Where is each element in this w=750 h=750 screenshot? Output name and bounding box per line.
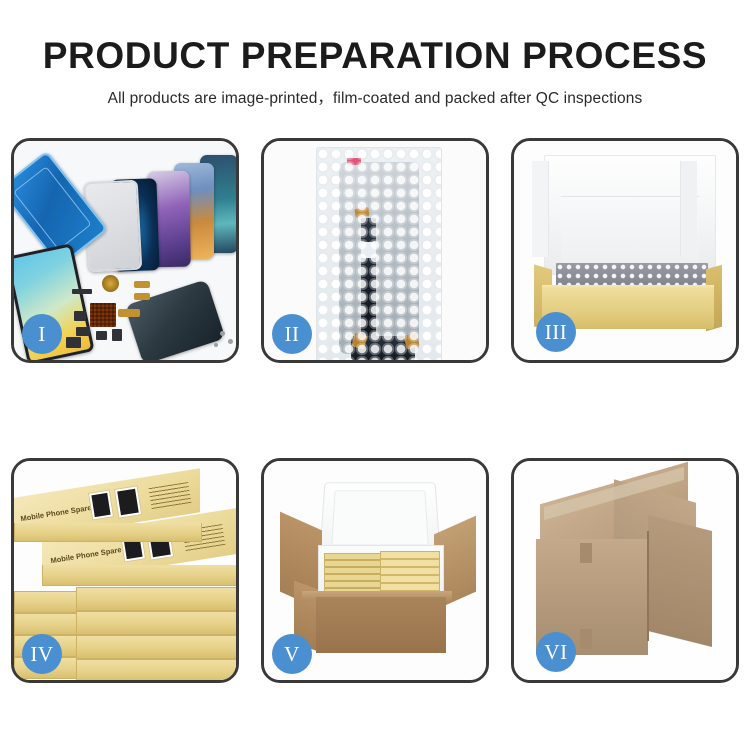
part-speaker-mesh — [72, 289, 92, 294]
part-connector-a — [74, 311, 86, 321]
gold-box-stack-right-2 — [76, 587, 236, 611]
gold-box-top-edge — [14, 523, 202, 542]
part-camera-module — [76, 327, 90, 336]
process-step-panel-1[interactable]: I — [11, 138, 239, 363]
header: PRODUCT PREPARATION PROCESS All products… — [0, 0, 750, 108]
process-step-panel-6[interactable]: VI — [511, 458, 739, 683]
foam-lid — [319, 482, 440, 554]
part-taptic-engine — [66, 337, 81, 348]
gold-box-stack-right-5 — [76, 659, 236, 680]
step-badge-2: II — [272, 314, 312, 354]
part-screw-c — [214, 343, 218, 347]
step-badge-4: IV — [22, 634, 62, 674]
part-sim-tray — [96, 331, 107, 340]
wrapped-phone-screen — [339, 162, 419, 354]
process-step-grid: I II — [11, 138, 739, 683]
process-step-panel-4[interactable]: Mobile Phone Spare Parts Mobile Phone Sp… — [11, 458, 239, 683]
quality-sticker — [347, 158, 361, 165]
carton-seam-upper — [580, 543, 592, 563]
gold-box-thumbnail-top-a — [88, 489, 114, 520]
part-flex-cable-b — [134, 293, 150, 300]
carton-seam-lower — [580, 629, 592, 649]
part-flex-cable-c — [118, 309, 140, 317]
page-subtitle: All products are image-printed，film-coat… — [0, 77, 750, 108]
gold-box-middle-edge — [42, 565, 236, 586]
step-badge-5: V — [272, 634, 312, 674]
part-screw-b — [228, 339, 233, 344]
carton-front — [316, 597, 446, 653]
part-vibration-coil — [102, 275, 119, 292]
step-badge-3: III — [536, 312, 576, 352]
gold-box-stack-right-4 — [76, 635, 236, 659]
page-title: PRODUCT PREPARATION PROCESS — [0, 0, 750, 77]
part-flex-cable-a — [134, 281, 150, 288]
box-lid-flap-right — [680, 161, 697, 257]
process-step-panel-2[interactable]: II — [261, 138, 489, 363]
screen-flex-cable — [361, 218, 376, 338]
step-badge-1: I — [22, 314, 62, 354]
gold-box-stack-right-3 — [76, 611, 236, 635]
screen-driver-ic — [361, 242, 376, 258]
carton-right-side — [648, 515, 712, 647]
process-step-panel-5[interactable]: V — [261, 458, 489, 683]
gold-box-thumbnail-top-b — [114, 485, 142, 518]
carton-corner-edge — [647, 531, 649, 641]
part-logic-board-grid — [90, 303, 116, 327]
bubble-wrap-pouch — [316, 147, 442, 360]
process-step-panel-3[interactable]: III — [511, 138, 739, 363]
step-badge-6: VI — [536, 632, 576, 672]
part-button-set — [112, 329, 122, 341]
box-lid-flap-left — [532, 161, 549, 257]
part-screw-a — [220, 331, 225, 336]
foam-lid-inner — [331, 490, 428, 545]
